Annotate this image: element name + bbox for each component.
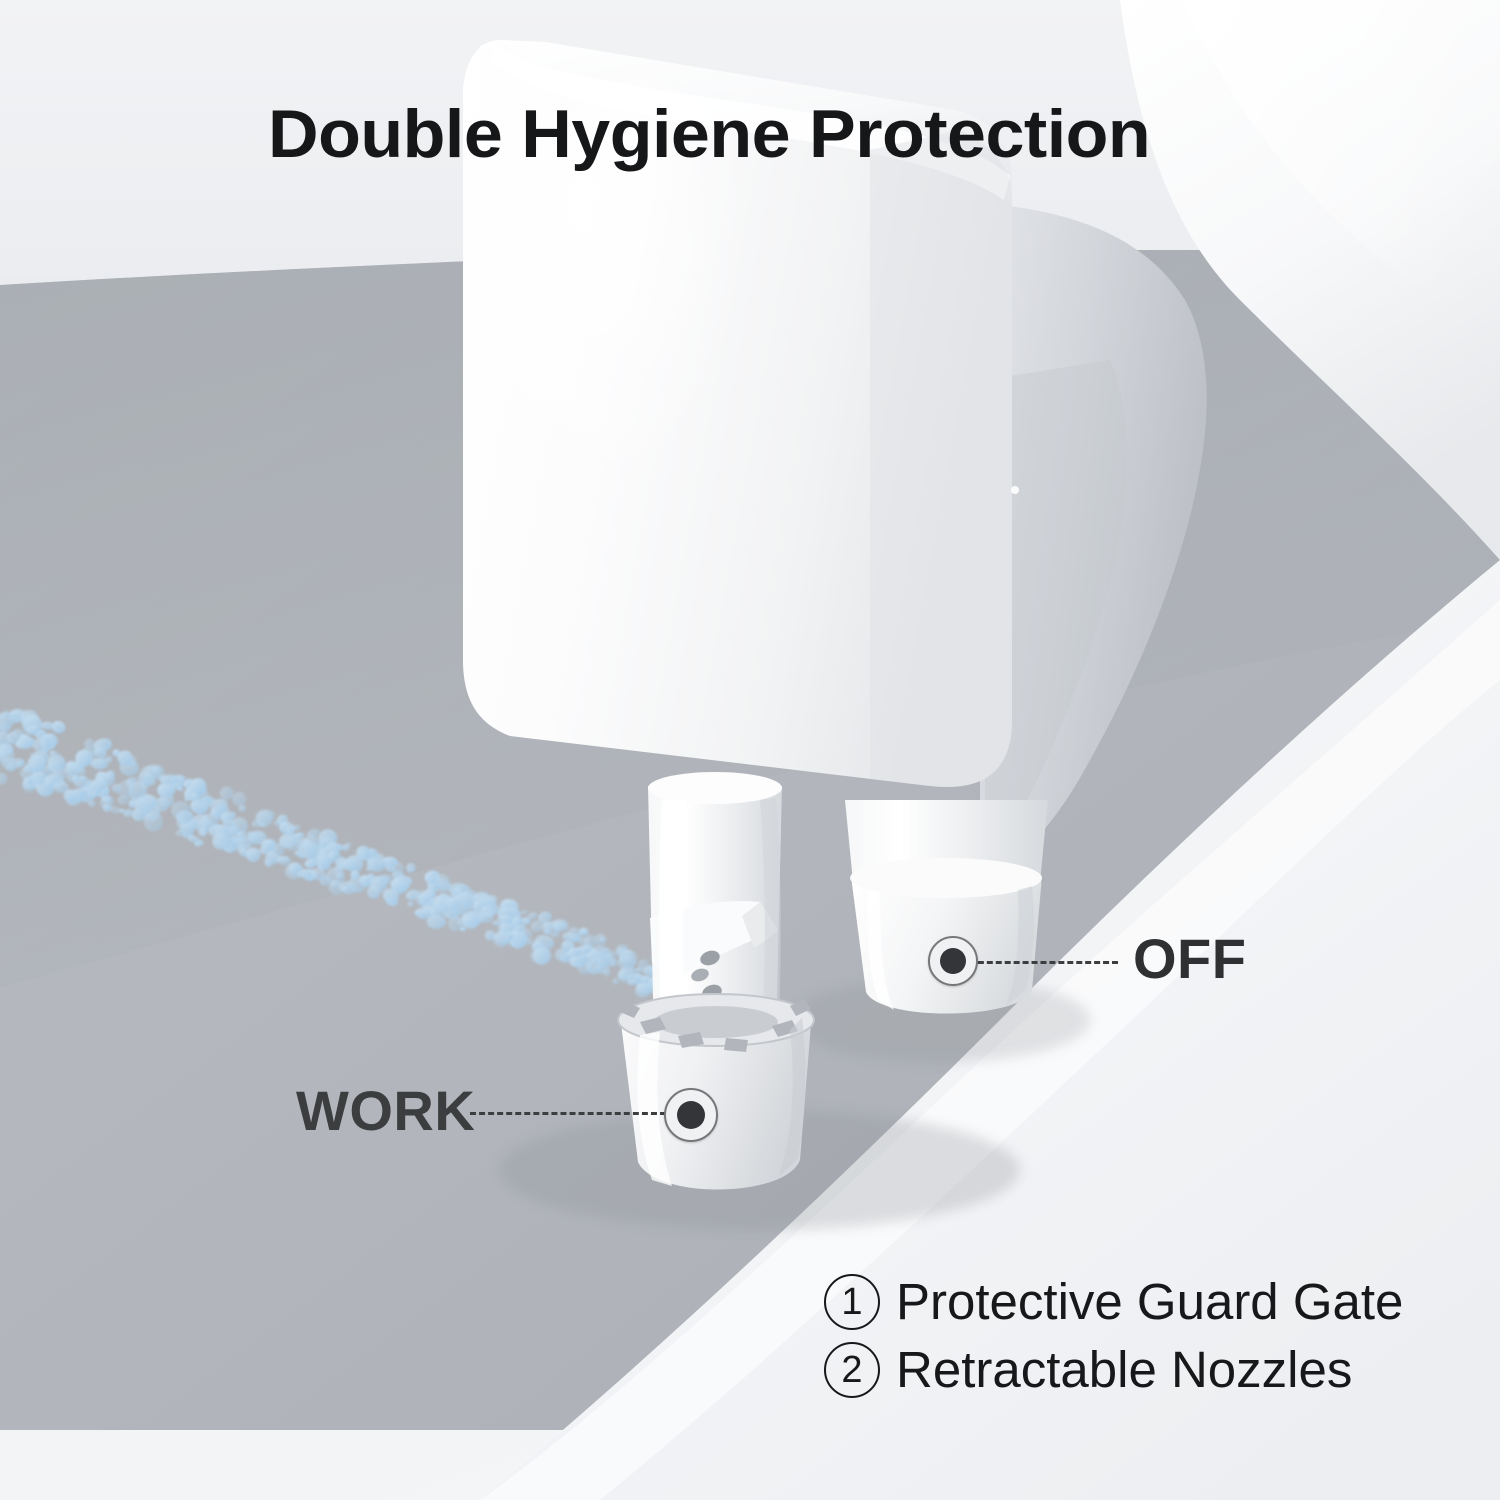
list-item: 2 Retractable Nozzles	[824, 1336, 1403, 1404]
circled-number-icon: 1	[824, 1274, 880, 1330]
leader-line-off	[960, 961, 1118, 964]
product-feature-image: OFF WORK Double Hygiene Protection 1 Pro…	[0, 0, 1500, 1500]
circled-number-icon: 2	[824, 1342, 880, 1398]
page-title: Double Hygiene Protection	[268, 95, 1150, 173]
feature-legend: 1 Protective Guard Gate 2 Retractable No…	[824, 1268, 1403, 1405]
leader-line-work	[470, 1112, 666, 1115]
callout-label-work: WORK	[296, 1078, 475, 1143]
callout-label-off: OFF	[1133, 926, 1246, 991]
nozzle-state-dot-icon-work	[664, 1088, 718, 1142]
legend-item-label: Protective Guard Gate	[896, 1268, 1403, 1336]
legend-item-label: Retractable Nozzles	[896, 1336, 1352, 1404]
nozzle-state-dot-icon-off	[928, 936, 978, 986]
list-item: 1 Protective Guard Gate	[824, 1268, 1403, 1336]
